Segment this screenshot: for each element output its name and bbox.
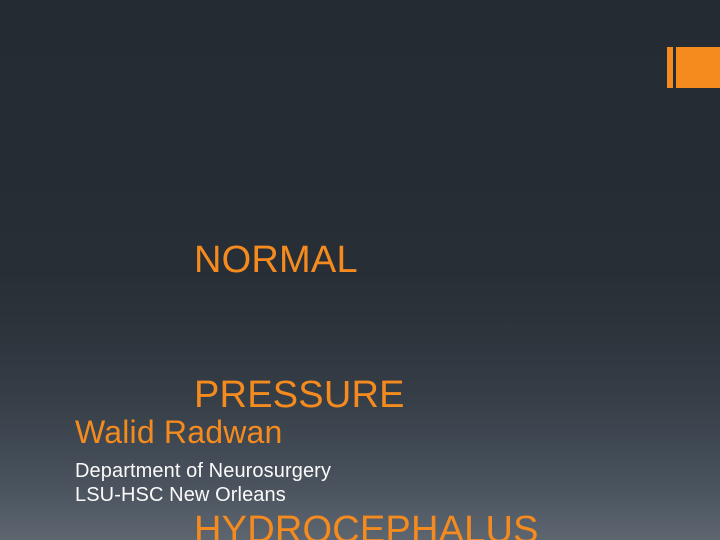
slide-title-line-2: PRESSURE	[194, 373, 694, 418]
affiliation-block: Department of Neurosurgery LSU-HSC New O…	[75, 459, 635, 507]
affiliation-line-1: Department of Neurosurgery	[75, 459, 635, 483]
slide-title-line-3: HYDROCEPHALUS	[194, 508, 694, 540]
title-slide: NORMAL PRESSURE HYDROCEPHALUS Walid Radw…	[0, 0, 720, 540]
orange-accent-block-icon	[676, 47, 720, 88]
slide-title-line-1: NORMAL	[194, 238, 694, 283]
orange-accent-bar-icon	[667, 47, 673, 88]
affiliation-line-2: LSU-HSC New Orleans	[75, 483, 635, 507]
author-name: Walid Radwan	[75, 413, 635, 451]
top-right-decoration	[667, 47, 720, 88]
byline-block: Walid Radwan Department of Neurosurgery …	[75, 413, 635, 507]
